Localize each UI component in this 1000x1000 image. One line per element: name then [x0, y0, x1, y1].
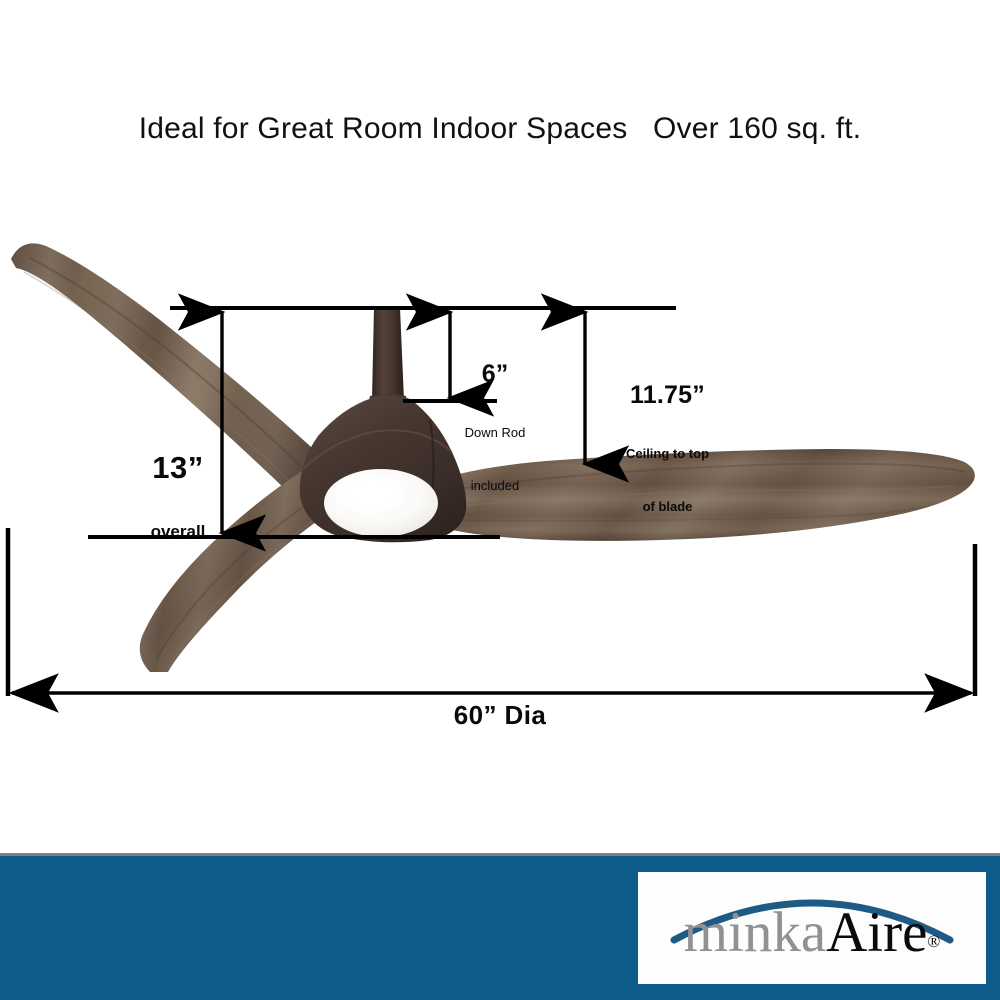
down-rod-note-line1: Down Rod — [440, 424, 550, 441]
ceiling-to-blade-label: 11.75” Ceiling to top of blade — [600, 345, 735, 551]
down-rod-label: 6” Down Rod included — [440, 325, 550, 530]
diameter-label: 60” Dia — [380, 700, 620, 731]
logo-wordmark: minkaAire® — [638, 900, 986, 975]
ceiling-to-blade-note-line2: of blade — [600, 498, 735, 515]
overall-height-value: 13” — [118, 451, 238, 485]
registered-trademark-icon: ® — [927, 932, 940, 951]
ceiling-to-blade-note-line1: Ceiling to top — [600, 445, 735, 462]
down-rod-value: 6” — [440, 361, 550, 388]
logo-word-aire: Aire — [826, 901, 927, 964]
logo-word-minka: minka — [684, 901, 826, 964]
overall-height-note: overall — [118, 521, 238, 543]
brand-logo: minkaAire® — [638, 872, 986, 984]
overall-height-label: 13” overall — [118, 415, 238, 579]
down-rod-note-line2: included — [440, 477, 550, 494]
product-spec-image: Ideal for Great Room Indoor Spaces Over … — [0, 0, 1000, 1000]
ceiling-to-blade-value: 11.75” — [600, 381, 735, 409]
